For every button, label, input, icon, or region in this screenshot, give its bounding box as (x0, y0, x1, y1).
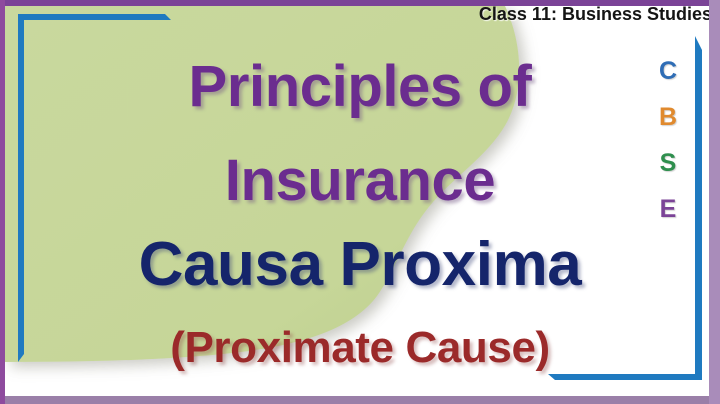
slide-canvas: Class 11: Business Studies Principles of… (0, 0, 720, 404)
translation-proximate-cause: (Proximate Cause) (0, 323, 720, 373)
course-header: Class 11: Business Studies (0, 4, 712, 25)
subtitle-causa-proxima: Causa Proxima (0, 229, 720, 300)
board-letter-s: S (655, 140, 681, 186)
board-letter-c: C (655, 48, 681, 94)
board-letter-e: E (655, 186, 681, 232)
board-letter-b: B (655, 94, 681, 140)
title-line-1: Principles of (0, 53, 720, 120)
slide-text-layer: Class 11: Business Studies Principles of… (0, 0, 720, 404)
title-line-2: Insurance (0, 147, 720, 214)
board-letters-cbse: C B S E (655, 48, 681, 232)
